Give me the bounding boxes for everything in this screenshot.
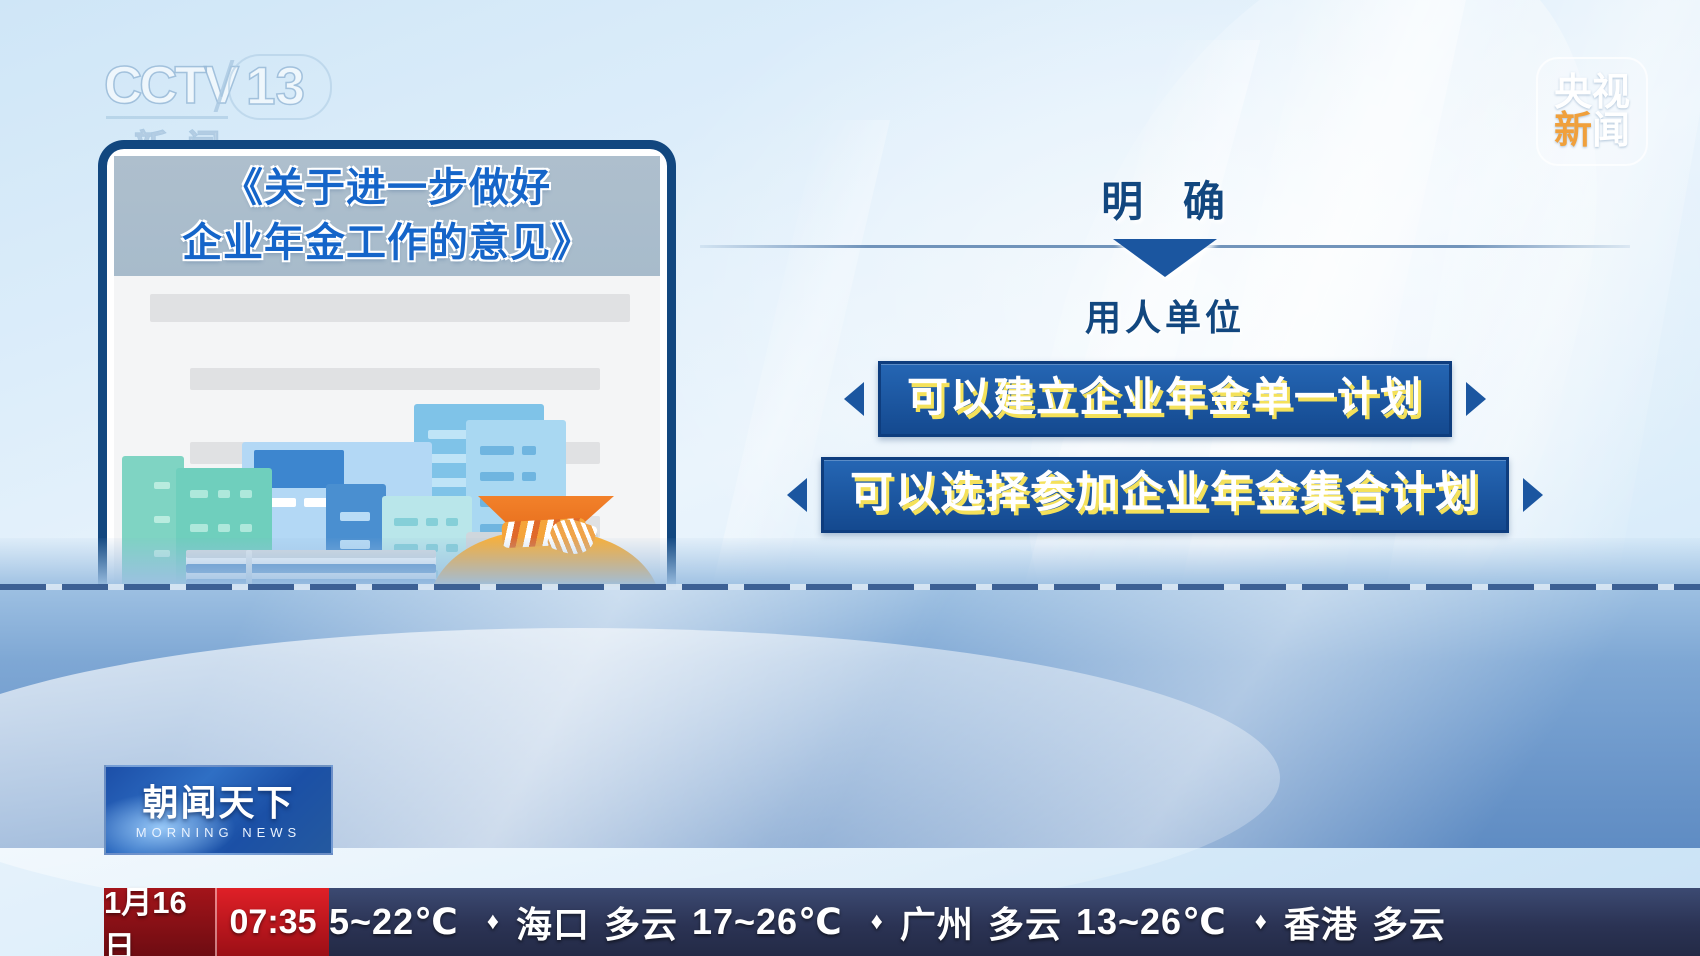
weather-temp: 13~26℃ [1076,901,1227,943]
cctv-logo-underline [106,116,228,119]
panel-heading: 明 确 [710,168,1630,229]
watermark-row-bottom: 新 闻 [1554,112,1630,150]
arrow-left-icon [1466,382,1486,416]
watermark-text-top: 央视 [1554,74,1630,112]
bullet-bar-2: 可以选择参加企业年金集合计划 [821,457,1509,533]
bullet-row-1: 可以建立企业年金单一计划 [700,361,1630,437]
weather-condition: 多云 [604,896,678,948]
arrow-right-icon [844,382,864,416]
program-subtitle: MORNING NEWS [106,825,331,840]
weather-condition: 多云 [1372,896,1446,948]
weather-item: ♦ 香港 多云 [1227,896,1460,948]
document-title-line-1: 《关于进一步做好 [223,161,551,216]
bullet-bar-1-text: 可以建立企业年金单一计划 [907,372,1423,422]
bullet-row-2: 可以选择参加企业年金集合计划 [700,457,1630,533]
time-box: 07:35 [215,888,329,956]
weather-city: 海口 [516,896,590,948]
chevron-down-icon [1113,239,1217,277]
bullet-bar-2-text: 可以选择参加企业年金集合计划 [850,468,1480,518]
weather-separator-icon: ♦ [1255,908,1268,936]
arrow-left-icon [1523,478,1543,512]
weather-item: 5~22℃ [329,901,459,943]
time-text: 07:35 [230,903,317,942]
weather-temp: 17~26℃ [692,901,843,943]
weather-ticker: 5~22℃ ♦ 海口 多云 17~26℃ ♦ 广州 多云 13~26℃ ♦ 香港… [329,888,1700,956]
weather-item: ♦ 广州 多云 13~26℃ [843,896,1227,948]
program-logo: 朝闻天下 MORNING NEWS [104,765,333,855]
panel-subheading: 用人单位 [700,289,1630,341]
document-title-line-2: 企业年金工作的意见》 [182,216,592,271]
arrow-right-icon [787,478,807,512]
cctv-news-watermark: 央视 新 闻 [1536,57,1648,166]
document-title-band: 《关于进一步做好 企业年金工作的意见》 [114,156,660,276]
date-box: 1月16日 [104,888,215,956]
cctv-logo-number: 13 [246,56,305,117]
watermark-text-white: 闻 [1592,112,1630,150]
broadcast-screen: CCTV 13 新闻 央视 新 闻 《关于进一步做好 企业年金工作的意见》 [0,0,1700,956]
weather-item: ♦ 海口 多云 17~26℃ [459,896,843,948]
program-title: 朝闻天下 [106,783,331,823]
doc-placeholder-line [150,294,630,322]
weather-separator-icon: ♦ [487,908,500,936]
weather-temp: 5~22℃ [329,901,459,943]
watermark-row-top: 央视 [1554,74,1630,112]
watermark-text-orange: 新 [1554,112,1592,150]
weather-city: 香港 [1284,896,1358,948]
date-text: 1月16日 [104,877,215,956]
bullet-bar-1: 可以建立企业年金单一计划 [878,361,1452,437]
info-panel: 明 确 用人单位 可以建立企业年金单一计划 可以选择参加企业年金集合计划 [700,168,1630,533]
weather-city: 广州 [900,896,974,948]
panel-divider [700,239,1630,283]
datetime-bar: 1月16日 07:35 [104,888,329,956]
weather-condition: 多云 [988,896,1062,948]
weather-separator-icon: ♦ [871,908,884,936]
